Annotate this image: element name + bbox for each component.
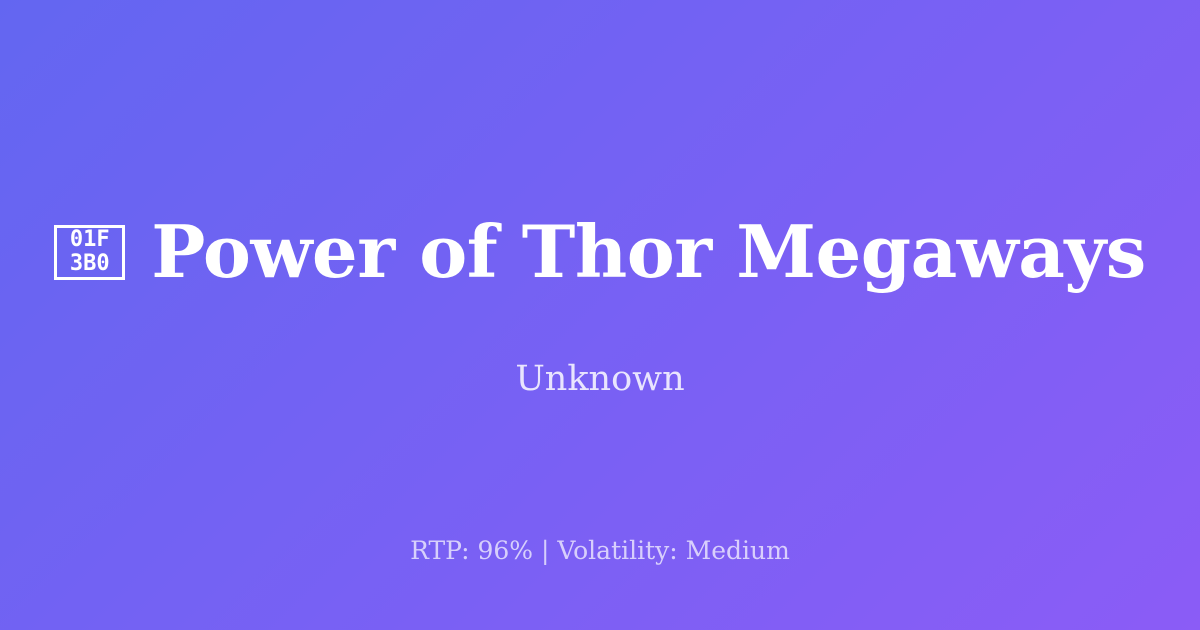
page-title: Power of Thor Megaways bbox=[151, 214, 1146, 290]
game-meta-line: RTP: 96% | Volatility: Medium bbox=[0, 536, 1200, 566]
hero-block: 01F 3B0 Power of Thor Megaways Unknown bbox=[0, 214, 1200, 400]
title-row: 01F 3B0 Power of Thor Megaways bbox=[0, 214, 1200, 290]
tofu-codepoint-bottom: 3B0 bbox=[70, 252, 110, 276]
og-card: 01F 3B0 Power of Thor Megaways Unknown R… bbox=[0, 0, 1200, 630]
slot-machine-icon: 01F 3B0 bbox=[54, 225, 125, 280]
provider-subtitle: Unknown bbox=[515, 358, 684, 400]
tofu-codepoint-top: 01F bbox=[70, 228, 110, 252]
